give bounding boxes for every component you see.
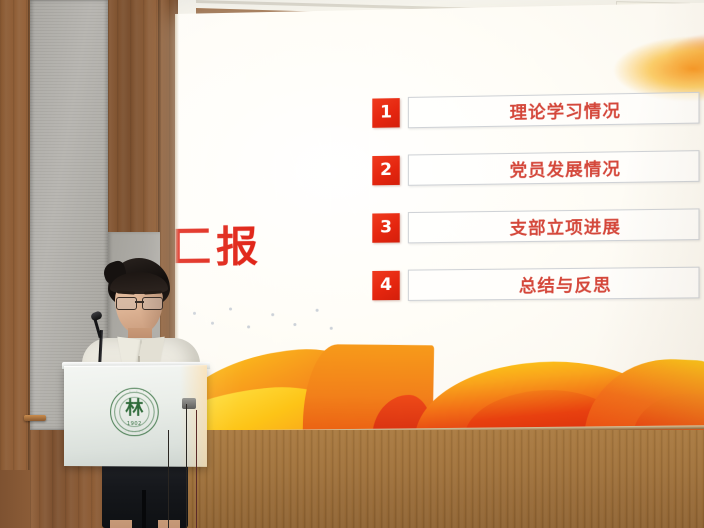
floor-cable (196, 410, 211, 528)
door-handle[interactable] (24, 415, 46, 421)
glasses-bridge (135, 301, 144, 303)
emblem-ring-text-bottom: · · · · · · · · (121, 430, 148, 434)
agenda-label-2: 党员发展情况 (510, 154, 621, 181)
agenda-label-1: 理论学习情况 (510, 96, 621, 123)
emblem-ring-text-top: · · · · · · (115, 390, 153, 395)
presentation-photo-scene: 匚报 1 理论学习情况 2 党员发展情况 3 支部立项进展 (0, 0, 704, 528)
slide-agenda-list: 1 理论学习情况 2 党员发展情况 3 支部立项进展 4 (372, 91, 699, 327)
shorts-seam (142, 490, 146, 528)
agenda-bar-3: 支部立项进展 (408, 208, 700, 243)
emblem-center-mark: 林 (125, 400, 143, 418)
slide-ribbon-artwork (175, 307, 704, 432)
agenda-bar-2: 党员发展情况 (408, 150, 700, 186)
agenda-number-badge-4: 4 (372, 270, 399, 300)
presenter-leg (110, 520, 132, 528)
agenda-item-2: 2 党员发展情况 (372, 149, 699, 186)
emblem-year: 1902 (127, 421, 142, 427)
agenda-label-4: 总结与反思 (519, 270, 612, 296)
slide-sparkle-decor (189, 305, 340, 348)
floor-cable (168, 430, 179, 528)
lower-wood-wall (178, 430, 704, 528)
agenda-item-4: 4 总结与反思 (372, 266, 699, 302)
projection-screen: 匚报 1 理论学习情况 2 党员发展情况 3 支部立项进展 (175, 3, 704, 432)
wall-lower-left (0, 470, 30, 528)
university-emblem-icon: · · · · · · 林 1902 · · · · · · · · (110, 388, 159, 437)
glasses-lens (142, 297, 163, 310)
agenda-number-badge-2: 2 (372, 155, 399, 185)
agenda-label-3: 支部立项进展 (510, 212, 621, 239)
glasses-icon (115, 297, 164, 308)
agenda-bar-4: 总结与反思 (408, 266, 700, 300)
agenda-number-badge-1: 1 (372, 98, 399, 128)
agenda-bar-1: 理论学习情况 (408, 91, 700, 127)
glasses-lens (116, 297, 137, 310)
agenda-item-3: 3 支部立项进展 (372, 207, 699, 243)
agenda-item-1: 1 理论学习情况 (372, 91, 699, 129)
agenda-number-badge-3: 3 (372, 213, 399, 243)
slide-corner-decoration (572, 3, 704, 106)
